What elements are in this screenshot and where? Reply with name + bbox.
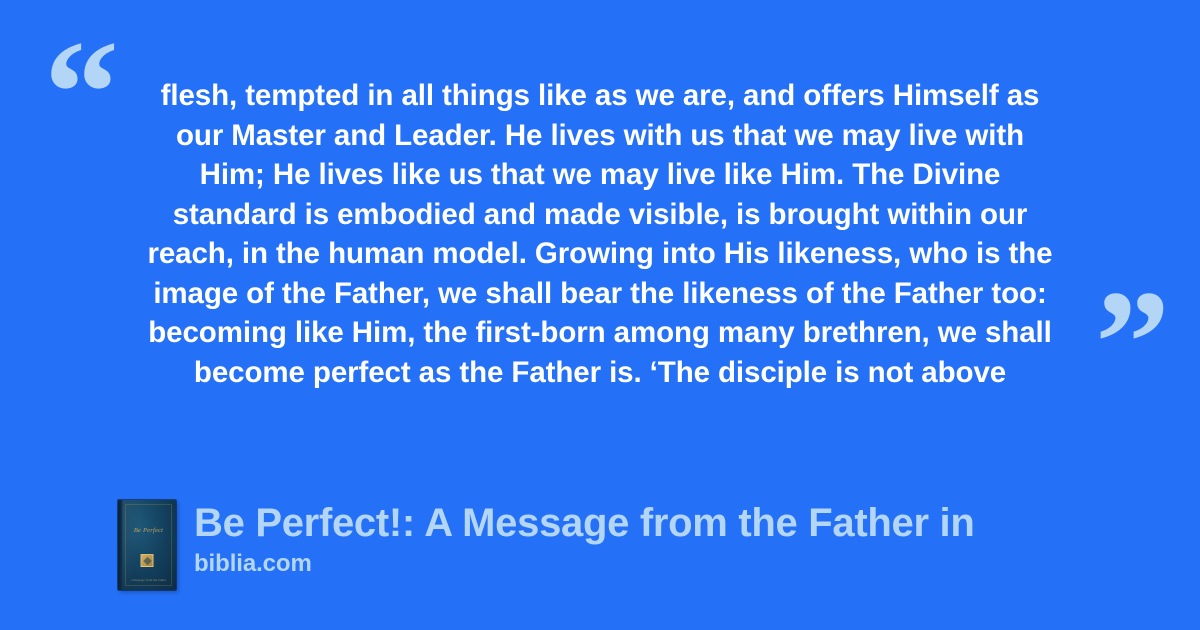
book-cover-emblem-icon (141, 554, 154, 567)
opening-quote-icon: “ (44, 18, 119, 168)
attribution-footer[interactable]: Be Perfect a message from the father Be … (118, 500, 974, 590)
closing-quote-icon: ” (1095, 268, 1170, 418)
quote-card: “ flesh, tempted in all things like as w… (0, 0, 1200, 630)
quote-text: flesh, tempted in all things like as we … (112, 76, 1088, 392)
book-cover-title: Be Perfect (125, 527, 172, 535)
book-cover-border (125, 504, 172, 586)
book-cover-imprint: a message from the father (125, 578, 172, 582)
site-name[interactable]: biblia.com (194, 550, 974, 578)
book-title[interactable]: Be Perfect!: A Message from the Father i… (194, 500, 974, 546)
book-spine (118, 500, 123, 590)
quote-block: flesh, tempted in all things like as we … (112, 76, 1088, 392)
book-cover-thumbnail[interactable]: Be Perfect a message from the father (118, 500, 176, 590)
attribution-text: Be Perfect!: A Message from the Father i… (194, 500, 974, 578)
